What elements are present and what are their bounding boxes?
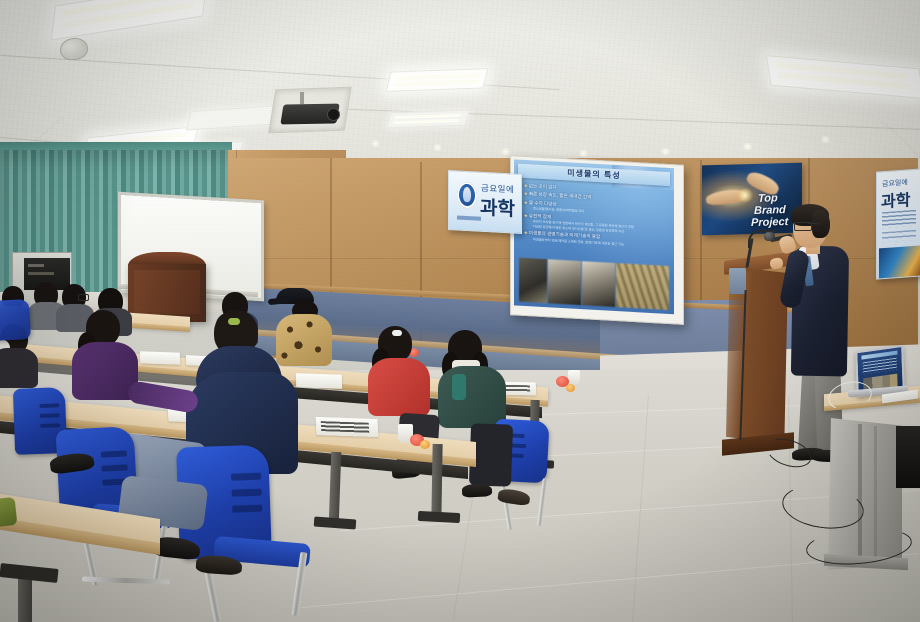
- av-monitor-dark: [896, 426, 920, 488]
- slide-photo-strip: [519, 258, 669, 310]
- science-banner-line2: 과학: [480, 193, 515, 222]
- banner-text-block: [882, 230, 916, 242]
- projected-slide: 미생물의 특성 ◈ 없는 곳이 없다 ◈ 빠른 성장 속도, 짧은 세대간 간격…: [514, 159, 674, 314]
- bullet-marker-icon: ◈: [524, 230, 528, 235]
- desk-leg: [431, 444, 442, 518]
- bullet-text: 유전적 잠재: [529, 213, 551, 219]
- science-banner-left: 금요일에 과학: [448, 170, 522, 234]
- hair-accessory-icon: [228, 318, 240, 325]
- handout-paper: [140, 351, 181, 364]
- podium-side-plate: [729, 268, 746, 294]
- laptop-slide-body: [863, 358, 897, 375]
- bullet-marker-icon: ◈: [524, 183, 528, 188]
- slide-photo-scientist-1: [519, 258, 547, 304]
- slide-bullet-list: ◈ 없는 곳이 없다 ◈ 빠른 성장 속도, 짧은 세대간 간격 ◈ 물 수지 …: [524, 183, 670, 249]
- science-banner-right: 금요일에 과학: [876, 168, 920, 279]
- chair-back: [0, 299, 31, 341]
- hair-clip-icon: [392, 330, 402, 336]
- projection-screen-frame: 미생물의 특성 ◈ 없는 곳이 없다 ◈ 빠른 성장 속도, 짧은 세대간 간격…: [510, 155, 684, 325]
- av-rack-slot: [28, 272, 54, 275]
- slide-photo-scientist-2: [548, 259, 581, 305]
- av-rack-slot: [28, 264, 44, 267]
- brand-poster-line1: Top: [758, 193, 778, 205]
- paper-print: [321, 421, 369, 433]
- audience-red-jacket: [368, 358, 430, 416]
- audience-green-jacket: [438, 366, 506, 428]
- audience-leopard-jacket: [276, 314, 332, 366]
- paper-cup: [568, 370, 580, 385]
- desk-foot: [418, 511, 460, 523]
- banner-text-block: [882, 210, 916, 228]
- projector-arm: [300, 92, 304, 104]
- bullet-marker-icon: ◈: [524, 191, 528, 196]
- snack-item: [420, 440, 430, 449]
- cabinet-panel: [134, 270, 200, 314]
- desk-item-green: [0, 497, 17, 527]
- microphone-head-icon: [764, 232, 775, 241]
- ceiling-light-fixture: [386, 68, 489, 92]
- handout-paper: [296, 373, 342, 389]
- science-banner-footer: [457, 216, 481, 221]
- audience-teal-accent: [452, 374, 466, 400]
- brand-poster-line3: Project: [751, 217, 788, 229]
- lecture-hall-photo: 미생물의 특성 ◈ 없는 곳이 없다 ◈ 빠른 성장 속도, 짧은 세대간 간격…: [0, 0, 920, 622]
- banner-photo-strip: [879, 245, 920, 278]
- bullet-text: 빠른 성장 속도, 짧은 세대간 간격: [529, 192, 592, 201]
- slide-photo-scientist-3: [582, 261, 615, 307]
- audience-glasses-icon: [78, 294, 89, 301]
- audience-torso: [0, 348, 38, 388]
- slide-photo-industrial-plant: [616, 263, 669, 310]
- bullet-text: 없는 곳이 없다: [529, 183, 557, 190]
- bullet-marker-icon: ◈: [524, 213, 528, 218]
- spark-glow-icon: [736, 188, 754, 203]
- audience-shoe: [462, 483, 493, 498]
- science-banner-right-line2: 과학: [881, 186, 910, 212]
- science-logo-mark: [463, 187, 471, 202]
- bullet-marker-icon: ◈: [524, 200, 528, 205]
- top-brand-poster: Top Brand Project: [702, 163, 802, 236]
- snack-item: [566, 384, 575, 392]
- handout-paper: [316, 417, 379, 437]
